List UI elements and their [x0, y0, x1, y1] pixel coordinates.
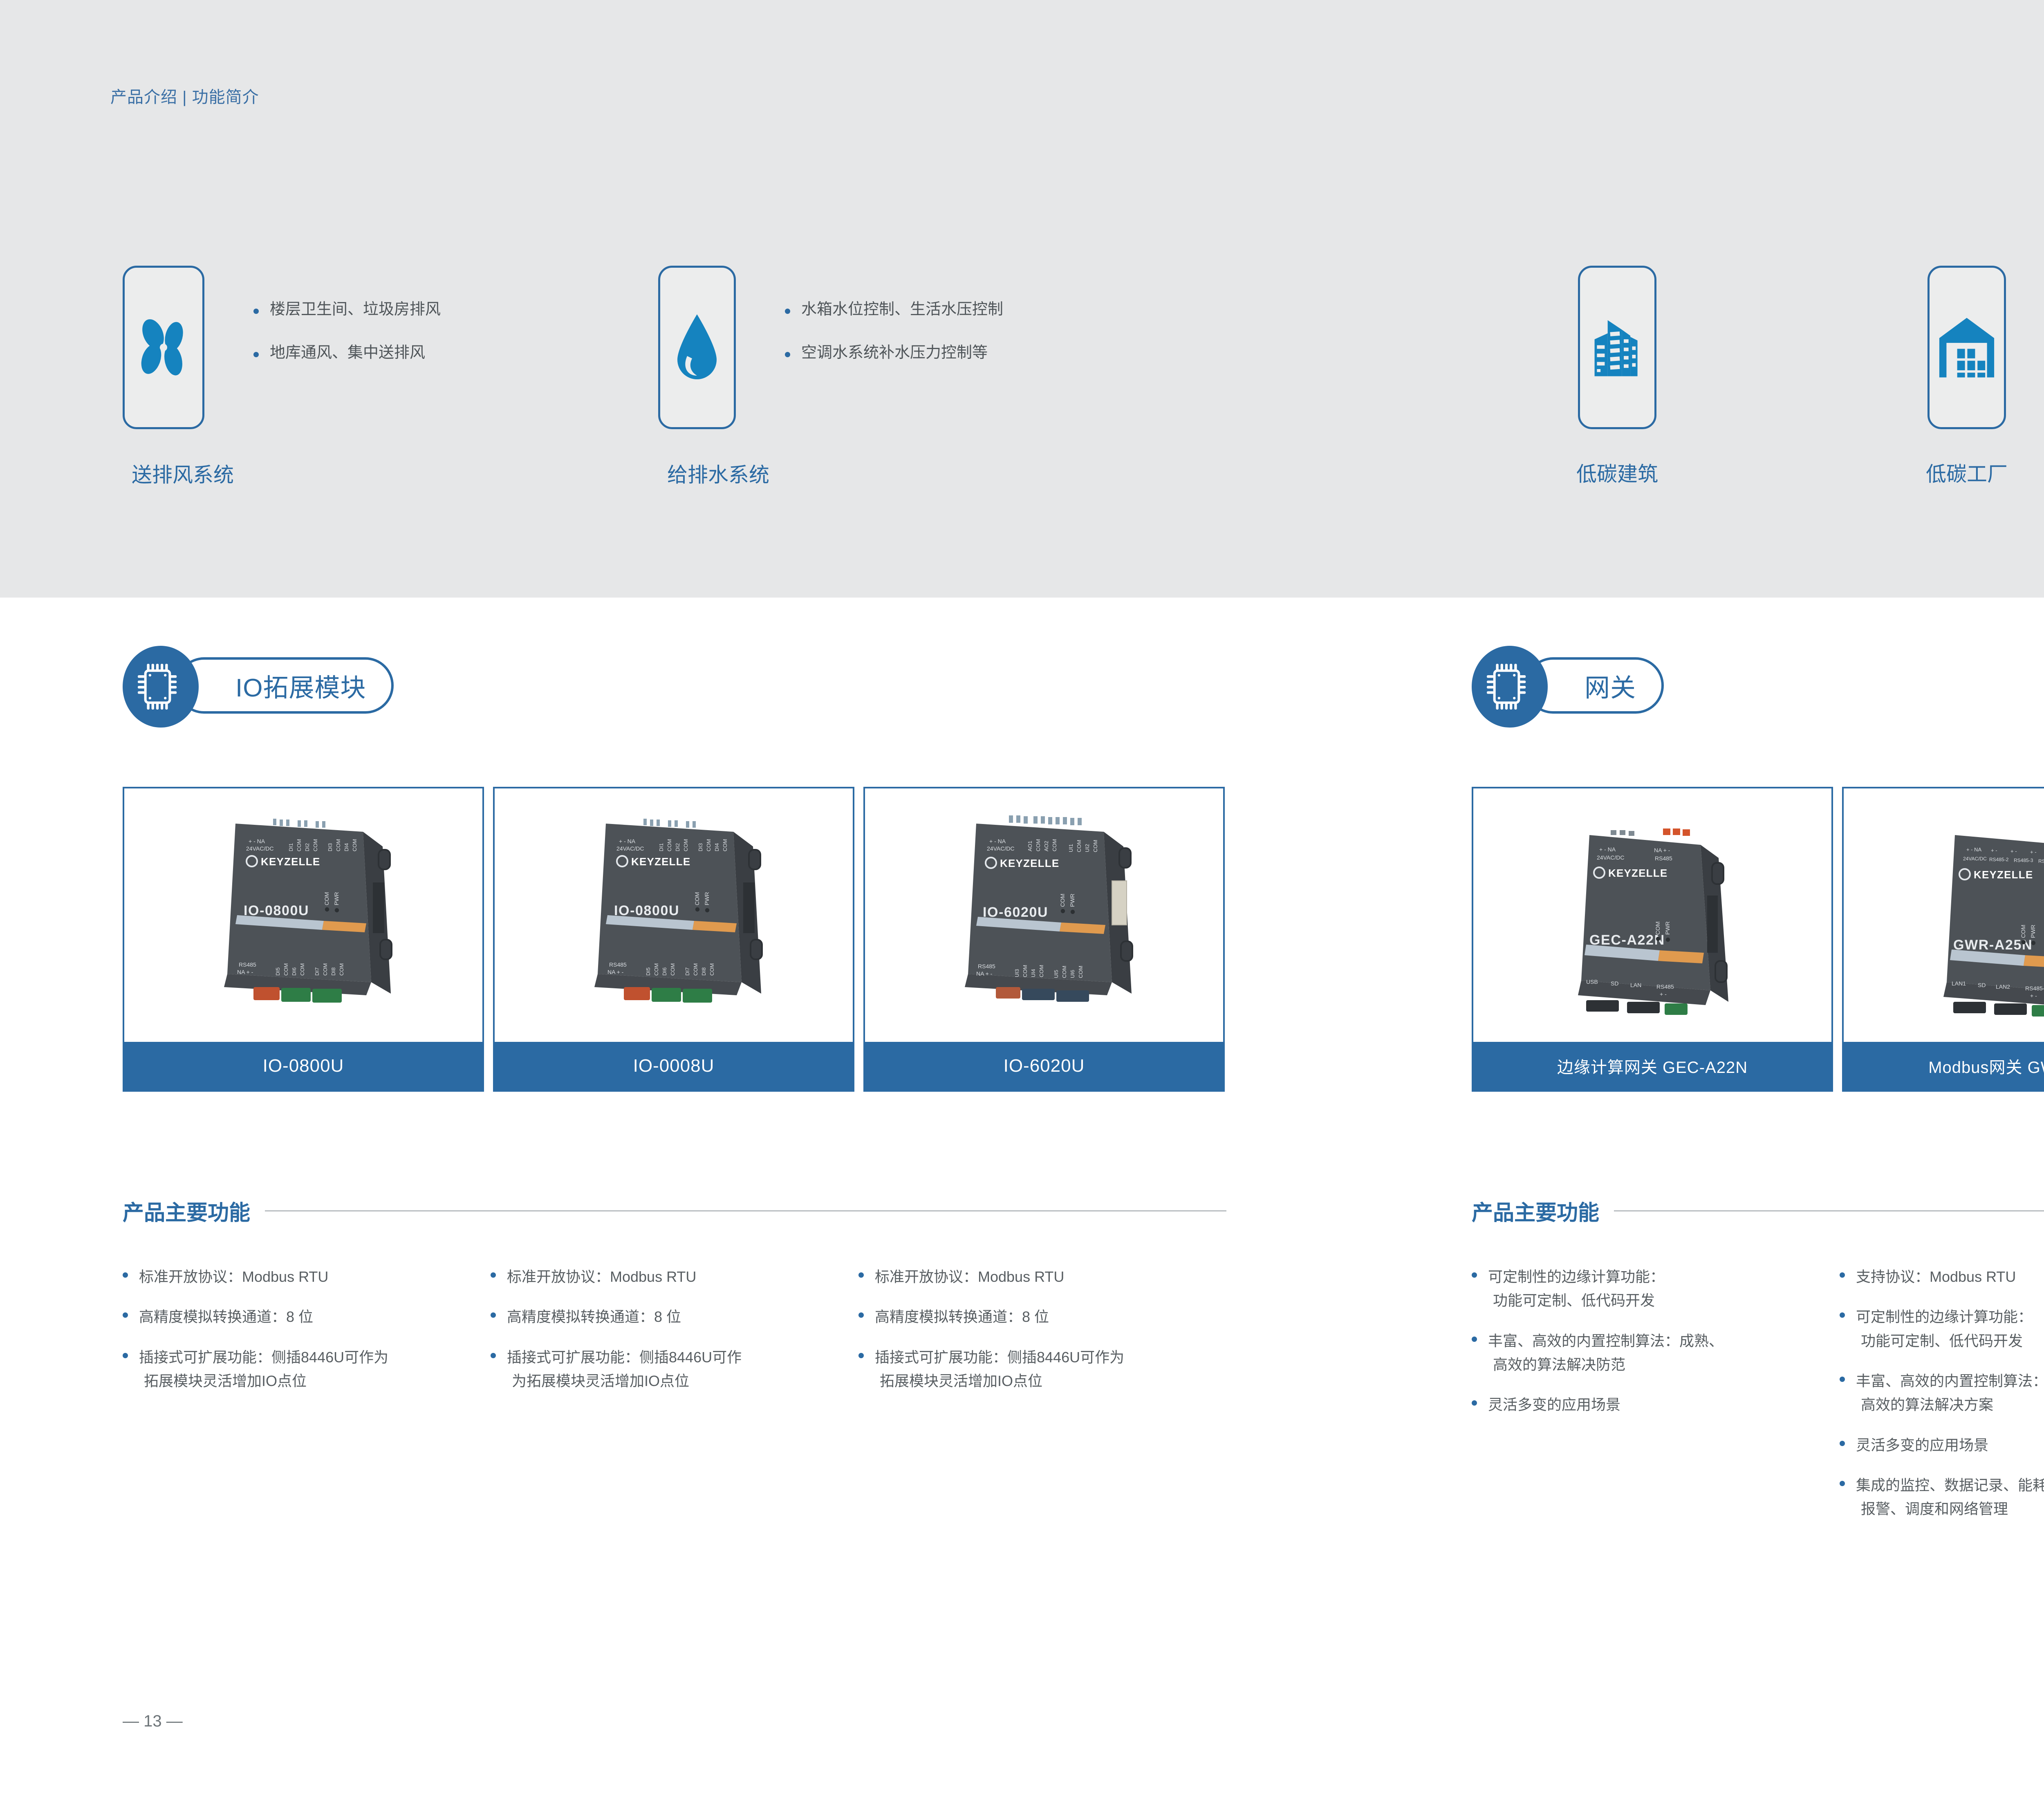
svg-text:COM: COM — [323, 892, 330, 905]
svg-text:LAN1: LAN1 — [1952, 980, 1966, 987]
product-label: IO-0008U — [495, 1042, 853, 1090]
svg-text:DI2: DI2 — [675, 843, 681, 851]
svg-text:COM: COM — [335, 839, 341, 851]
io-module-device-image: + - NA 24VAC/DC DI1 COM DI2 COM DI3 COM … — [539, 801, 809, 1030]
svg-text:COM: COM — [1076, 840, 1082, 852]
svg-text:COM: COM — [694, 892, 700, 905]
chip-badge — [123, 646, 199, 728]
water-drop-icon — [672, 311, 722, 384]
svg-text:24VAC/DC: 24VAC/DC — [1963, 856, 1987, 862]
features-heading-gateway: 产品主要功能 — [1472, 1196, 2044, 1226]
svg-text:COM: COM — [653, 963, 659, 976]
ventilation-bullet-list: 楼层卫生间、垃圾房排风 地库通风、集中送排风 — [253, 266, 441, 388]
svg-text:COM: COM — [1078, 966, 1084, 978]
svg-text:RS485-4: RS485-4 — [2038, 858, 2044, 864]
svg-text:UI6: UI6 — [1069, 970, 1076, 978]
svg-text:DI8: DI8 — [701, 967, 707, 976]
svg-text:UI3: UI3 — [1014, 969, 1020, 977]
feature-columns-io: 标准开放协议：Modbus RTU 高精度模拟转换通道：8 位 插接式可扩展功能… — [123, 1265, 1226, 1409]
svg-text:UI4: UI4 — [1030, 969, 1036, 977]
svg-text:USB: USB — [1586, 978, 1598, 985]
svg-text:COM: COM — [312, 839, 318, 851]
low-carbon-caption: 低碳工厂 — [1926, 458, 2008, 487]
svg-text:COM: COM — [709, 963, 715, 976]
svg-text:COM: COM — [683, 839, 689, 851]
list-item: 丰富、高效的内置控制算法：成熟、高效的算法解决防范 — [1472, 1329, 1840, 1377]
svg-text:COM: COM — [2020, 925, 2026, 938]
svg-text:KEYZELLE: KEYZELLE — [1974, 869, 2033, 881]
chip-icon — [138, 662, 184, 711]
svg-text:PWR: PWR — [1664, 921, 1671, 935]
svg-text:UI2: UI2 — [1084, 844, 1090, 852]
svg-text:DI1: DI1 — [288, 843, 294, 851]
svg-text:COM: COM — [1061, 966, 1067, 978]
svg-text:COM: COM — [1035, 839, 1041, 851]
chip-icon — [1487, 662, 1533, 711]
water-bullet-list: 水箱水位控制、生活水压控制 空调水系统补水压力控制等 — [785, 266, 1003, 388]
svg-text:NA + -: NA + - — [237, 969, 253, 975]
svg-text:UI1: UI1 — [1068, 844, 1074, 852]
svg-text:COM: COM — [666, 839, 672, 851]
gateway-device-image: + - NA 24VAC/DC NA + - RS485 KEYZELLE GE… — [1526, 801, 1779, 1030]
svg-text:COM: COM — [722, 839, 728, 851]
list-item: 标准开放协议：Modbus RTU — [491, 1265, 858, 1289]
list-item: 高精度模拟转换通道：8 位 — [123, 1305, 491, 1329]
list-item: 插接式可扩展功能：侧插8446U可作为拓展模块灵活增加IO点位 — [491, 1346, 858, 1393]
svg-text:LAN2: LAN2 — [1996, 983, 2010, 990]
svg-text:+ - NA: + - NA — [1599, 846, 1616, 853]
svg-text:GWR-A25N: GWR-A25N — [1953, 937, 2033, 953]
svg-text:IO-6020U: IO-6020U — [983, 905, 1048, 920]
svg-text:DI1: DI1 — [658, 843, 664, 851]
list-item: 地库通风、集中送排风 — [253, 345, 441, 360]
svg-text:COM: COM — [338, 963, 345, 976]
svg-text:+ - NA: + - NA — [619, 838, 636, 844]
svg-text:COM: COM — [1051, 839, 1058, 851]
factory-warehouse-icon — [1936, 312, 1997, 383]
svg-text:COM: COM — [1059, 893, 1066, 907]
features-title: 产品主要功能 — [1472, 1196, 1599, 1226]
svg-text:DI4: DI4 — [714, 843, 720, 851]
svg-text:+ -: + - — [2010, 848, 2017, 854]
office-buildings-icon — [1587, 312, 1648, 383]
svg-text:+ - NA: + - NA — [989, 838, 1006, 844]
svg-text:DI6: DI6 — [291, 967, 297, 976]
list-item: 可定制性的边缘计算功能：功能可定制、低代码开发 — [1472, 1265, 1840, 1313]
io-module-device-image: + - NA 24VAC/DC AO1 COM AO2 COM UI1 COM … — [909, 801, 1179, 1030]
product-image: + - NA 24VAC/DC AO1 COM AO2 COM UI1 COM … — [865, 788, 1223, 1042]
svg-text:DI3: DI3 — [697, 843, 704, 851]
scenario-caption-water: 给排水系统 — [667, 459, 769, 488]
list-item: 灵活多变的应用场景 — [1472, 1393, 1840, 1417]
list-item: 插接式可扩展功能：侧插8446U可作为拓展模块灵活增加IO点位 — [858, 1346, 1226, 1393]
feature-columns-gateway: 可定制性的边缘计算功能：功能可定制、低代码开发 丰富、高效的内置控制算法：成熟、… — [1472, 1265, 2044, 1538]
scenario-ventilation: 楼层卫生间、垃圾房排风 地库通风、集中送排风 — [123, 266, 441, 429]
svg-text:AO2: AO2 — [1043, 841, 1049, 851]
svg-text:+ - NA: + - NA — [249, 838, 265, 844]
list-item: 标准开放协议：Modbus RTU — [123, 1265, 491, 1289]
office-buildings-icon-frame — [1578, 266, 1656, 429]
svg-text:NA + -: NA + - — [607, 969, 624, 975]
gateway-device-image: + - NA + - + - + - + - 24VAC/DC RS485-2 … — [1896, 801, 2044, 1030]
svg-text:+ -: + - — [2030, 992, 2037, 999]
svg-text:RS485-1: RS485-1 — [2025, 985, 2044, 992]
feature-column: 标准开放协议：Modbus RTU 高精度模拟转换通道：8 位 插接式可扩展功能… — [123, 1265, 491, 1409]
svg-text:COM: COM — [283, 963, 289, 976]
svg-text:COM: COM — [296, 839, 302, 851]
svg-text:DI4: DI4 — [343, 843, 350, 851]
svg-text:COM: COM — [1022, 965, 1028, 977]
features-heading-io: 产品主要功能 — [123, 1196, 1226, 1226]
product-image: + - NA 24VAC/DC NA + - RS485 KEYZELLE GE… — [1473, 788, 1831, 1042]
product-label: IO-6020U — [865, 1042, 1223, 1090]
svg-text:RS485: RS485 — [239, 961, 256, 968]
divider — [1614, 1210, 2044, 1211]
product-label: Modbus网关 GWR-A25N — [1844, 1042, 2044, 1090]
svg-text:COM: COM — [693, 963, 699, 976]
svg-text:SD: SD — [1611, 980, 1618, 987]
svg-text:SD: SD — [1978, 982, 1986, 988]
svg-text:DI3: DI3 — [327, 843, 333, 851]
list-item: 标准开放协议：Modbus RTU — [858, 1265, 1226, 1289]
svg-text:COM: COM — [322, 963, 328, 976]
divider — [265, 1210, 1226, 1211]
list-item: 丰富、高效的内置控制算法：成熟、高效的算法解决方案 — [1840, 1369, 2044, 1417]
section-title: IO拓展模块 — [235, 667, 366, 704]
water-drop-icon-frame — [658, 266, 736, 429]
factory-warehouse-icon-frame — [1927, 266, 2006, 429]
product-image: + - NA + - + - + - + - 24VAC/DC RS485-2 … — [1844, 788, 2044, 1042]
svg-text:AO1: AO1 — [1027, 841, 1033, 851]
product-image: + - NA 24VAC/DC DI1 COM DI2 COM DI3 COM … — [124, 788, 482, 1042]
svg-text:PWR: PWR — [2030, 925, 2036, 938]
svg-text:COM: COM — [706, 839, 712, 851]
svg-text:+ -: + - — [1991, 847, 1997, 853]
svg-text:IO-0800U: IO-0800U — [614, 903, 679, 918]
svg-text:COM: COM — [670, 963, 676, 976]
list-item: 集成的监控、数据记录、能耗计量、报警、调度和网络管理 — [1840, 1473, 2044, 1521]
svg-text:DI7: DI7 — [314, 967, 320, 976]
list-item: 可定制性的边缘计算功能：功能可定制、低代码开发 — [1840, 1305, 2044, 1353]
svg-text:DI5: DI5 — [275, 967, 281, 976]
svg-text:DI2: DI2 — [304, 843, 310, 851]
section-title: 网关 — [1585, 667, 1636, 704]
io-module-device-image: + - NA 24VAC/DC DI1 COM DI2 COM DI3 COM … — [168, 801, 438, 1030]
svg-text:COM: COM — [299, 963, 305, 976]
svg-text:NA + -: NA + - — [1654, 847, 1670, 853]
features-title: 产品主要功能 — [123, 1196, 250, 1226]
svg-text:PWR: PWR — [1069, 893, 1076, 907]
list-item: 支持协议：Modbus RTU — [1840, 1265, 2044, 1289]
list-item: 空调水系统补水压力控制等 — [785, 345, 1003, 360]
svg-text:UI5: UI5 — [1053, 970, 1059, 978]
product-label: 边缘计算网关 GEC-A22N — [1473, 1042, 1831, 1090]
scenario-water-supply: 水箱水位控制、生活水压控制 空调水系统补水压力控制等 — [658, 266, 1003, 429]
page-number-left: — 13 — — [123, 1712, 183, 1731]
svg-text:COM: COM — [352, 839, 358, 851]
svg-text:KEYZELLE: KEYZELLE — [631, 855, 690, 868]
chip-badge — [1472, 646, 1548, 728]
svg-text:DI5: DI5 — [645, 967, 651, 976]
svg-text:RS485: RS485 — [609, 961, 627, 968]
product-card-row-io: + - NA 24VAC/DC DI1 COM DI2 COM DI3 COM … — [123, 787, 1225, 1092]
product-card[interactable]: + - NA 24VAC/DC DI1 COM DI2 COM DI3 COM … — [493, 787, 854, 1092]
list-item: 水箱水位控制、生活水压控制 — [785, 302, 1003, 317]
running-head-left: 产品介绍 | 功能简介 — [110, 84, 259, 107]
feature-column: 可定制性的边缘计算功能：功能可定制、低代码开发 丰富、高效的内置控制算法：成熟、… — [1472, 1265, 1840, 1538]
product-card[interactable]: + - NA 24VAC/DC AO1 COM AO2 COM UI1 COM … — [863, 787, 1225, 1092]
svg-text:KEYZELLE: KEYZELLE — [261, 855, 320, 868]
svg-text:KEYZELLE: KEYZELLE — [1000, 857, 1059, 869]
svg-text:24VAC/DC: 24VAC/DC — [1597, 854, 1624, 861]
low-carbon-building-block: 低碳建筑 — [1578, 266, 1656, 429]
svg-text:PWR: PWR — [333, 892, 340, 905]
list-item: 插接式可扩展功能：侧插8446U可作为拓展模块灵活增加IO点位 — [123, 1346, 491, 1393]
svg-text:DI8: DI8 — [330, 967, 336, 976]
svg-text:RS485: RS485 — [1655, 855, 1672, 862]
pill-outline: IO拓展模块 — [176, 657, 394, 714]
svg-text:RS485: RS485 — [1656, 983, 1674, 990]
list-item: 高精度模拟转换通道：8 位 — [858, 1305, 1226, 1329]
svg-text:COM: COM — [1654, 921, 1661, 935]
svg-text:NA + -: NA + - — [976, 970, 993, 977]
svg-text:IO-0800U: IO-0800U — [244, 903, 309, 918]
svg-text:GEC-A22N: GEC-A22N — [1589, 932, 1665, 948]
product-card[interactable]: + - NA 24VAC/DC NA + - RS485 KEYZELLE GE… — [1472, 787, 1833, 1092]
svg-text:RS485-2: RS485-2 — [1989, 857, 2009, 862]
product-card[interactable]: + - NA + - + - + - + - 24VAC/DC RS485-2 … — [1842, 787, 2044, 1092]
svg-text:KEYZELLE: KEYZELLE — [1608, 867, 1667, 879]
svg-text:PWR: PWR — [704, 892, 710, 905]
svg-text:LAN: LAN — [1630, 982, 1641, 988]
list-item: 灵活多变的应用场景 — [1840, 1433, 2044, 1457]
svg-text:COM: COM — [1092, 840, 1098, 852]
svg-text:DI7: DI7 — [684, 967, 690, 976]
product-image: + - NA 24VAC/DC DI1 COM DI2 COM DI3 COM … — [495, 788, 853, 1042]
svg-text:+ -: + - — [1660, 991, 1667, 997]
low-carbon-factory-block: 低碳工厂 — [1927, 266, 2006, 429]
svg-text:24VAC/DC: 24VAC/DC — [246, 845, 273, 852]
low-carbon-caption: 低碳建筑 — [1576, 458, 1658, 487]
svg-text:RS485: RS485 — [978, 963, 995, 970]
svg-text:24VAC/DC: 24VAC/DC — [987, 845, 1014, 852]
svg-text:RS485-3: RS485-3 — [2014, 858, 2033, 863]
svg-text:+ -: + - — [2030, 849, 2037, 855]
scenario-caption-ventilation: 送排风系统 — [132, 459, 234, 488]
svg-text:COM: COM — [1038, 965, 1044, 977]
fan-icon-frame — [123, 266, 204, 429]
product-card-row-gateway: + - NA 24VAC/DC NA + - RS485 KEYZELLE GE… — [1472, 787, 2044, 1092]
svg-text:+ - NA: + - NA — [1966, 846, 1982, 853]
svg-text:DI6: DI6 — [661, 967, 668, 976]
fan-icon — [133, 313, 194, 382]
svg-text:24VAC/DC: 24VAC/DC — [616, 845, 644, 852]
feature-column: 支持协议：Modbus RTU 可定制性的边缘计算功能：功能可定制、低代码开发 … — [1840, 1265, 2044, 1538]
product-card[interactable]: + - NA 24VAC/DC DI1 COM DI2 COM DI3 COM … — [123, 787, 484, 1092]
list-item: 高精度模拟转换通道：8 位 — [491, 1305, 858, 1329]
list-item: 楼层卫生间、垃圾房排风 — [253, 302, 441, 317]
feature-column: 标准开放协议：Modbus RTU 高精度模拟转换通道：8 位 插接式可扩展功能… — [858, 1265, 1226, 1409]
product-label: IO-0800U — [124, 1042, 482, 1090]
feature-column: 标准开放协议：Modbus RTU 高精度模拟转换通道：8 位 插接式可扩展功能… — [491, 1265, 858, 1409]
